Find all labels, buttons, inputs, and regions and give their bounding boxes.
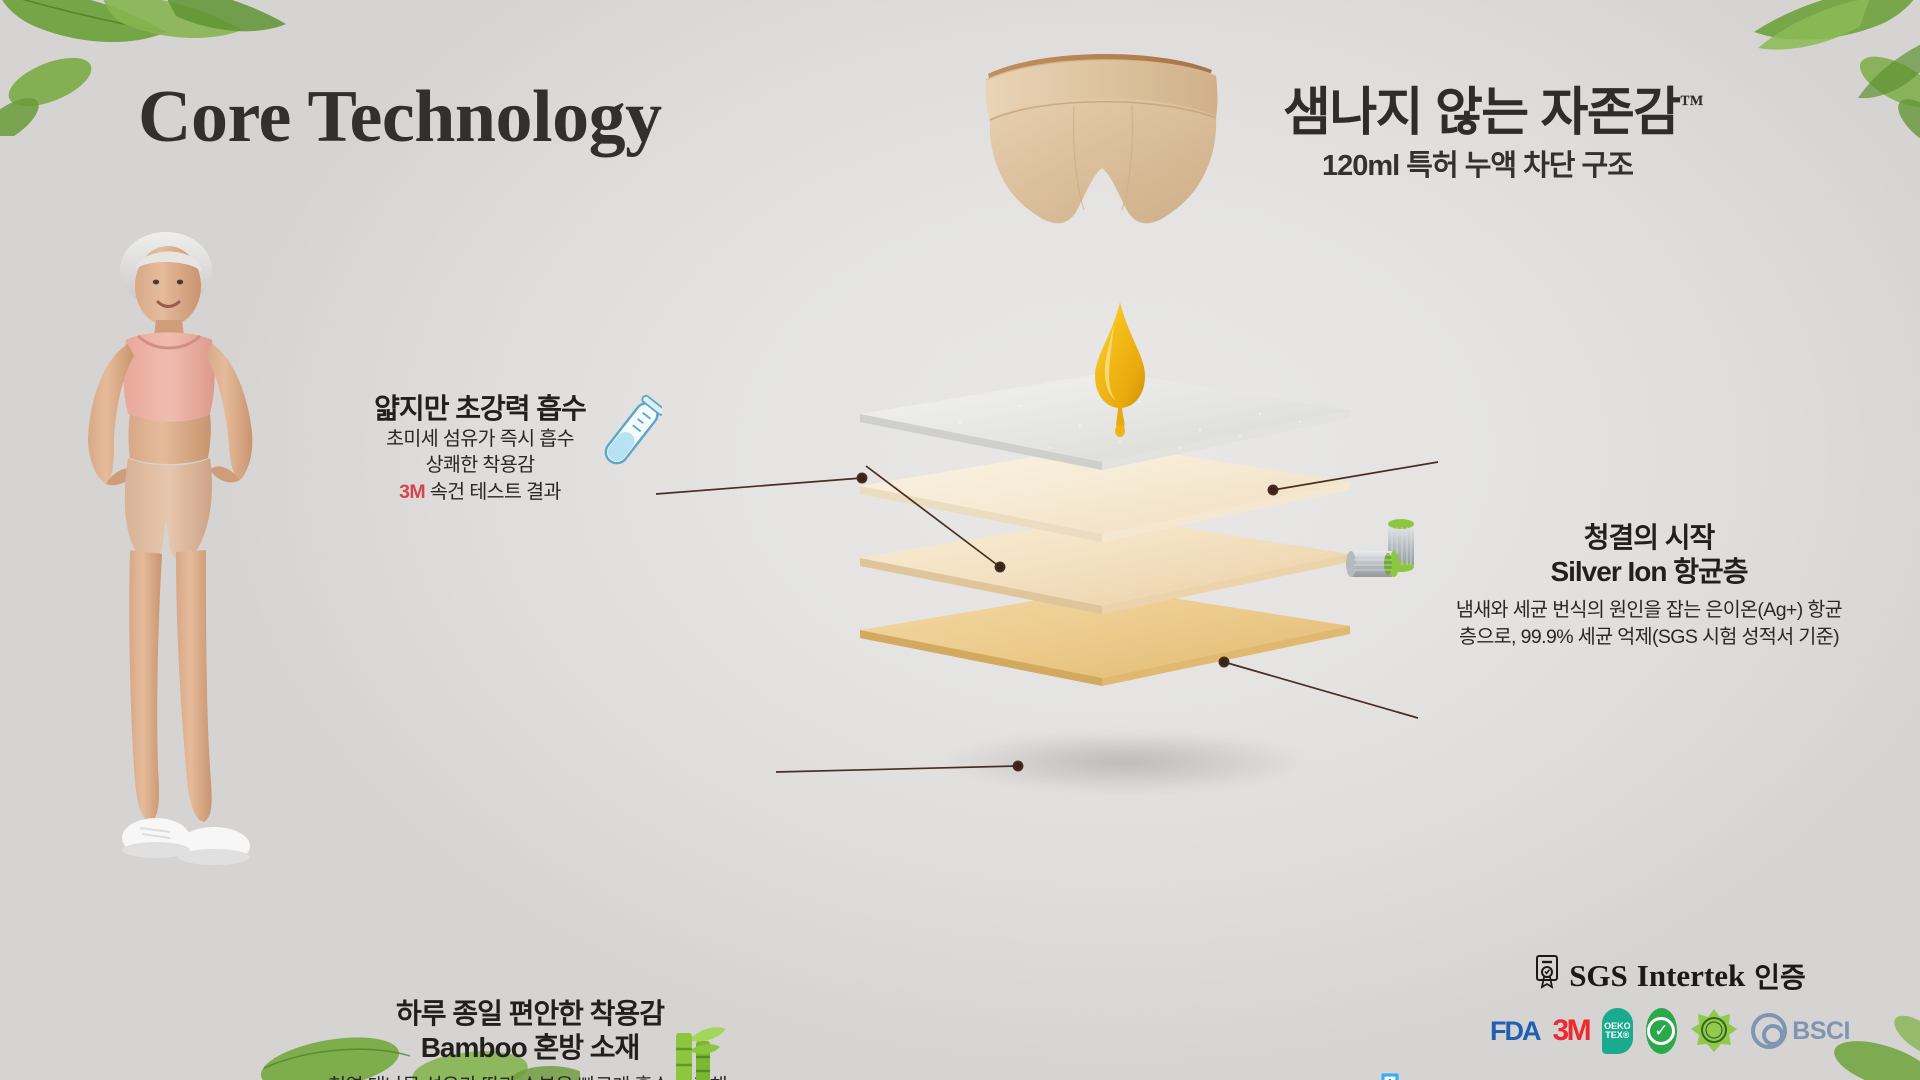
callout-silver-ion-heading-2: Silver Ion 항균층 (1434, 555, 1864, 589)
green-star-logo (1690, 1008, 1738, 1054)
certificate-icon (1534, 955, 1560, 997)
oeko-tex-logo: OEKO TEX® (1602, 1008, 1632, 1054)
bsci-swirl-icon (1751, 1013, 1787, 1049)
certifications-block: SGS Intertek 인증 FDA 3M OEKO TEX® ✓ (1490, 955, 1850, 1054)
callout-silver-ion-body-line-2: 층으로, 99.9% 세균 억제(SGS 시험 성적서 기준) (1434, 624, 1864, 650)
fda-logo: FDA (1490, 1016, 1540, 1047)
callout-absorption-body-tail: 속건 테스트 결과 (425, 481, 561, 503)
brand-3m-label: 3M (399, 481, 425, 503)
callout-silver-ion-heading-1: 청결의 시작 (1434, 521, 1864, 555)
callout-silver-ion-body: 냄새와 세균 번식의 원인을 잡는 은이온(Ag+) 항균 층으로, 99.9%… (1434, 597, 1864, 650)
callout-absorption-body-line-3: 3M 속건 테스트 결과 (300, 479, 660, 505)
infographic-canvas: Core Technology (0, 0, 1920, 1080)
callout-absorption: 얇지만 초강력 흡수 초미세 섬유가 즉시 흡수 상쾌한 착용감 3M 속건 테… (300, 392, 660, 505)
test-tube-icon (600, 392, 662, 481)
certification-suffix-label: 인증 (1754, 956, 1806, 996)
flask-icon (1357, 1071, 1423, 1080)
certifications-title: SGS Intertek 인증 (1490, 955, 1850, 997)
sgs-label: SGS (1569, 958, 1628, 994)
green-certification-logo: ✓ (1646, 1008, 1678, 1054)
thread-spool-icon (1342, 513, 1434, 596)
callout-bamboo: 하루 종일 편안한 착용감 Bamboo 혼방 소재 천연 대나무 섬유가 땀과… (290, 997, 770, 1080)
check-icon: ✓ (1647, 1017, 1675, 1045)
bamboo-icon (668, 1019, 728, 1080)
bsci-logo: BSCI (1751, 1013, 1850, 1049)
callout-silver-ion: 청결의 시작 Silver Ion 항균층 냄새와 세균 번식의 원인을 잡는 … (1434, 521, 1864, 650)
3m-logo: 3M (1553, 1014, 1590, 1048)
callout-silver-ion-body-line-1: 냄새와 세균 번식의 원인을 잡는 은이온(Ag+) 항균 (1434, 597, 1864, 623)
intertek-label: Intertek (1637, 958, 1745, 994)
certification-logos: FDA 3M OEKO TEX® ✓ BSCI (1490, 1008, 1850, 1054)
